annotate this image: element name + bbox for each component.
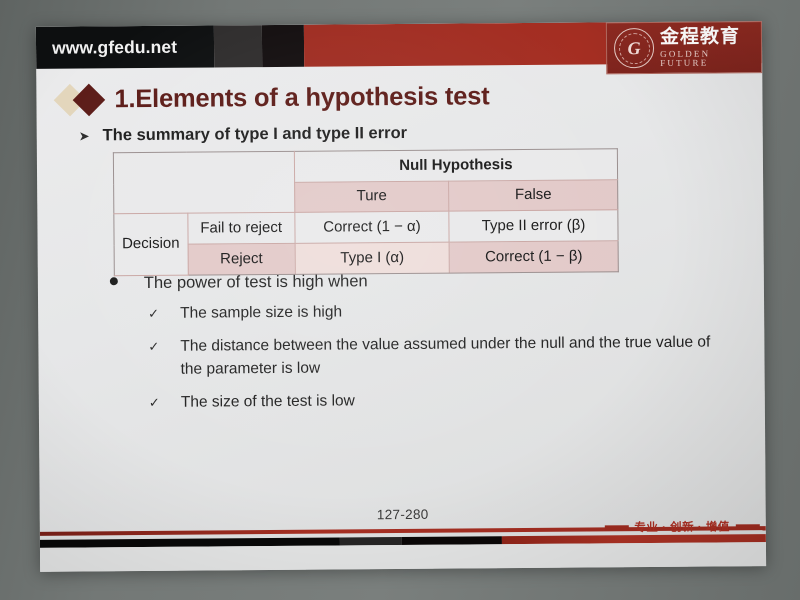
table-cell-correct-1-minus-beta: Correct (1 − β)	[449, 241, 618, 273]
subtitle-text: The summary of type I and type II error	[103, 124, 408, 145]
table-row: Decision Fail to reject Correct (1 − α) …	[114, 210, 618, 245]
table-cell-type-ii-error-beta: Type II error (β)	[449, 210, 618, 242]
table-cell-type-i-alpha: Type I (α)	[295, 242, 449, 274]
list-item-text: The sample size is high	[180, 300, 342, 325]
golden-future-seal-icon: G	[614, 28, 654, 68]
logo-english-name: GOLDEN FUTURE	[660, 49, 761, 68]
seal-monogram: G	[627, 39, 640, 57]
checkmark-icon: ✓	[148, 338, 159, 354]
brand-logo: G 金程教育 GOLDEN FUTURE	[606, 21, 762, 74]
table-row-label-reject: Reject	[188, 243, 296, 275]
list-item: ✓ The distance between the value assumed…	[148, 330, 730, 382]
bullet-list: The power of test is high when ✓ The sam…	[110, 269, 731, 423]
slide-title-row: 1.Elements of a hypothesis test	[58, 75, 489, 120]
logo-chinese-name: 金程教育	[660, 27, 761, 47]
hypothesis-error-table: Null Hypothesis Ture False Decision Fail…	[113, 148, 619, 276]
table-row: Null Hypothesis	[113, 149, 617, 184]
projected-slide-photo: www.gfedu.net G 金程教育 GOLDEN FUTURE	[0, 0, 800, 600]
bullet-main: The power of test is high when	[110, 269, 730, 293]
slide-surface: www.gfedu.net G 金程教育 GOLDEN FUTURE	[36, 21, 766, 572]
table-row-group-decision: Decision	[114, 213, 188, 276]
slide-subtitle-row: ➤ The summary of type I and type II erro…	[79, 124, 407, 146]
footer-slogan-text: 专业 · 创新 · 增值	[634, 518, 730, 535]
presentation-slide: www.gfedu.net G 金程教育 GOLDEN FUTURE	[36, 21, 766, 572]
list-item: ✓ The size of the test is low	[149, 386, 731, 414]
table-cell-correct-1-minus-alpha: Correct (1 − α)	[295, 211, 449, 243]
slogan-left-bar-icon	[604, 525, 628, 530]
slogan-right-bar-icon	[736, 524, 760, 529]
header-url-text: www.gfedu.net	[52, 36, 177, 58]
checkmark-icon: ✓	[148, 306, 159, 322]
logo-text-block: 金程教育 GOLDEN FUTURE	[660, 27, 761, 68]
header-url-block: www.gfedu.net	[36, 25, 214, 68]
header-black-segment	[262, 25, 304, 67]
checkmark-icon: ✓	[149, 395, 160, 411]
table-header-false: False	[449, 180, 618, 211]
diamond-dark-icon	[73, 83, 106, 116]
list-item-text: The size of the test is low	[181, 389, 355, 414]
bullet-main-text: The power of test is high when	[144, 272, 368, 293]
table-header-true: Ture	[294, 181, 448, 212]
footer-slogan-block: 专业 · 创新 · 增值	[604, 518, 760, 535]
page-title: 1.Elements of a hypothesis test	[114, 82, 489, 114]
table-header-null-hypothesis: Null Hypothesis	[294, 149, 617, 183]
list-item-text: The distance between the value assumed u…	[180, 330, 730, 381]
list-item: ✓ The sample size is high	[148, 297, 730, 325]
table-row-label-fail-to-reject: Fail to reject	[187, 212, 295, 244]
footer-white-strip	[40, 542, 766, 572]
bullet-dot-icon	[110, 277, 118, 285]
arrow-bullet-icon: ➤	[79, 129, 90, 142]
table-corner-blank	[113, 151, 294, 213]
header-gray-segment	[214, 25, 262, 67]
